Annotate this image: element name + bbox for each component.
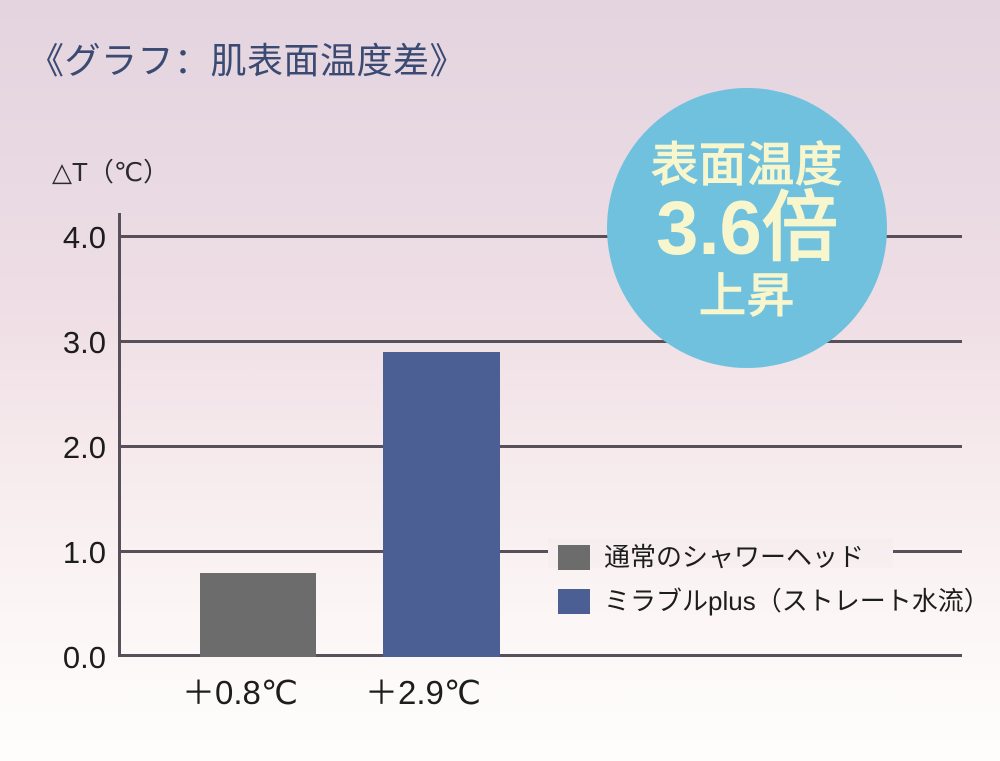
badge-line-suffix: 上昇 bbox=[699, 271, 795, 320]
y-tick-label-1: 1.0 bbox=[38, 535, 106, 571]
y-tick-label-0: 0.0 bbox=[38, 640, 106, 676]
y-axis-label: △T（℃） bbox=[52, 152, 169, 189]
status-badge: 表面温度 3.6倍 上昇 bbox=[607, 88, 887, 368]
bar-normal-showerhead bbox=[200, 573, 316, 657]
badge-line-value: 3.6倍 bbox=[656, 191, 838, 267]
legend-label-normal: 通常のシャワーヘッド bbox=[604, 544, 864, 570]
x-tick-label-mirable: ＋2.9℃ bbox=[323, 666, 523, 714]
legend-item-normal: 通常のシャワーヘッド bbox=[558, 535, 958, 579]
chart-canvas: 《グラフ：肌表面温度差》 △T（℃） 4.0 3.0 2.0 1.0 0.0 ＋… bbox=[0, 0, 1000, 761]
bar-mirable-plus bbox=[383, 352, 500, 657]
legend: 通常のシャワーヘッド ミラブルplus（ストレート水流） bbox=[558, 535, 958, 623]
y-tick-label-4: 4.0 bbox=[38, 220, 106, 256]
page-title: 《グラフ：肌表面温度差》 bbox=[28, 32, 466, 84]
legend-swatch-blue bbox=[558, 589, 590, 614]
badge-line-heading: 表面温度 bbox=[651, 140, 843, 189]
x-tick-label-normal: ＋0.8℃ bbox=[140, 666, 340, 714]
y-tick-label-2: 2.0 bbox=[38, 430, 106, 466]
gridline-2 bbox=[118, 445, 962, 448]
legend-label-mirable: ミラブルplus（ストレート水流） bbox=[604, 588, 990, 614]
legend-item-mirable: ミラブルplus（ストレート水流） bbox=[558, 579, 958, 623]
y-tick-label-3: 3.0 bbox=[38, 325, 106, 361]
gridline-3 bbox=[118, 340, 962, 343]
legend-swatch-gray bbox=[558, 545, 590, 570]
